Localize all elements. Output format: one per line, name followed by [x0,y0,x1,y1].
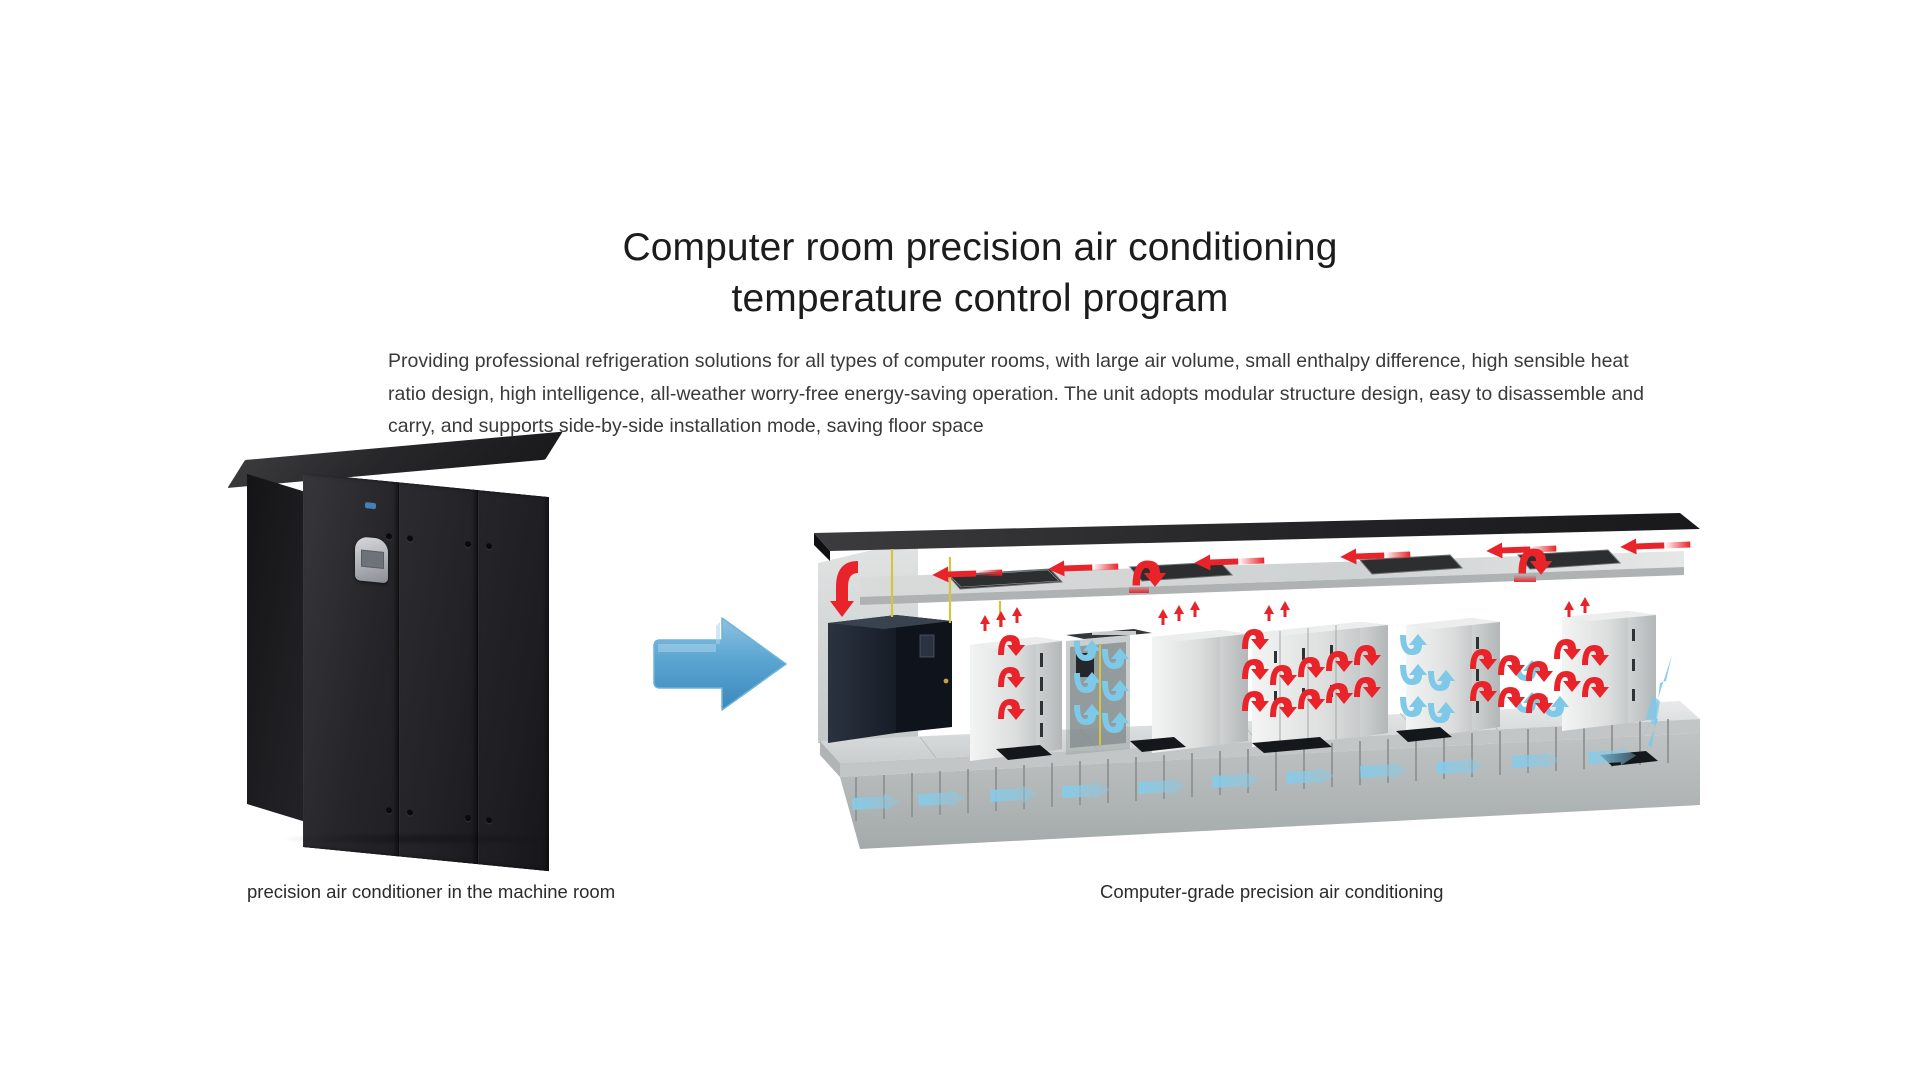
crac-unit-in-room [828,615,952,743]
door-hinge-icon [486,543,492,550]
door-hinge-icon [407,809,413,816]
cabinet-shadow [283,832,553,846]
cabinet-front-doors [303,473,549,871]
cabinet-side-panel [247,474,305,822]
door-hinge-icon [386,807,392,814]
cabinet-door-2 [399,482,478,864]
intro-line-2: ratio design, high intelligence, all-wea… [388,378,1538,411]
intro-line-1: Providing professional refrigeration sol… [388,345,1538,378]
cabinet-door-1 [303,473,399,856]
right-arrow-icon [650,612,790,716]
server-rack [1562,611,1656,731]
page-title: Computer room precision air conditioning… [540,222,1420,324]
ceiling-slab [814,513,1700,551]
left-figure-caption: precision air conditioner in the machine… [247,880,615,904]
door-hinge-icon [465,815,471,822]
page-title-line-2: temperature control program [540,273,1420,324]
intro-line-3: carry, and supports side-by-side install… [388,410,1538,443]
control-display-panel [355,536,388,583]
cabinet-door-3 [478,490,549,871]
precision-ac-unit-image [200,452,630,892]
door-hinge-icon [407,535,413,542]
intro-paragraph: Providing professional refrigeration sol… [388,345,1538,443]
datacenter-room-image [800,505,1710,865]
server-rack [1152,630,1248,753]
door-hinge-icon [386,533,392,540]
display-screen [361,550,384,569]
right-figure-caption: Computer-grade precision air conditionin… [1100,880,1443,904]
ac-cabinet [245,452,575,852]
page-title-line-1: Computer room precision air conditioning [540,222,1420,273]
door-hinge-icon [486,817,492,824]
status-led [365,502,376,509]
door-hinge-icon [465,541,471,548]
